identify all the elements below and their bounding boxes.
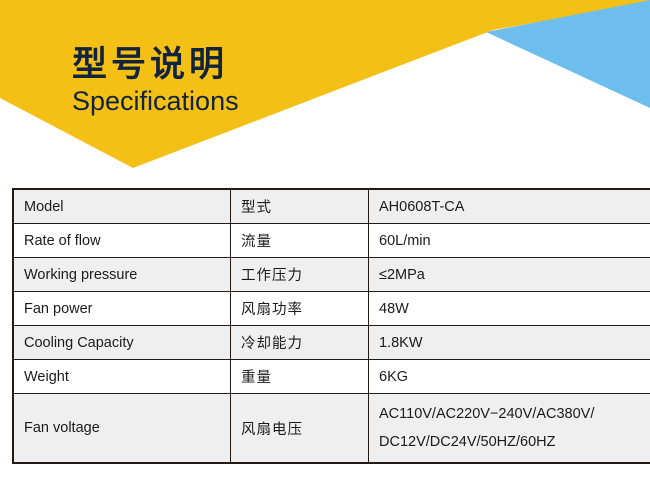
specifications-page: 型号说明 Specifications Model 型式 AH0608T-CA … (0, 0, 650, 484)
page-title-english: Specifications (72, 86, 239, 116)
row-label-chinese: 型式 (231, 189, 369, 224)
row-label-chinese: 风扇功率 (231, 292, 369, 326)
row-label-chinese: 工作压力 (231, 258, 369, 292)
table-row: Rate of flow 流量 60L/min (13, 224, 650, 258)
row-value: 48W (369, 292, 650, 326)
table-row: Fan voltage 风扇电压 AC110V/AC220V−240V/AC38… (13, 394, 650, 464)
banner-title-group: 型号说明 Specifications (72, 48, 239, 116)
row-value: 1.8KW (369, 326, 650, 360)
row-label-english: Rate of flow (13, 224, 231, 258)
header-banner: 型号说明 Specifications (0, 0, 650, 180)
row-value: AC110V/AC220V−240V/AC380V/ DC12V/DC24V/5… (369, 394, 650, 464)
row-value: 6KG (369, 360, 650, 394)
row-label-chinese: 重量 (231, 360, 369, 394)
row-label-chinese: 风扇电压 (231, 394, 369, 464)
row-label-english: Working pressure (13, 258, 231, 292)
row-label-english: Cooling Capacity (13, 326, 231, 360)
row-value-lines: AC110V/AC220V−240V/AC380V/ DC12V/DC24V/5… (379, 400, 650, 457)
row-label-english: Model (13, 189, 231, 224)
table-row: Cooling Capacity 冷却能力 1.8KW (13, 326, 650, 360)
row-label-chinese: 流量 (231, 224, 369, 258)
row-value-line-1: AC110V/AC220V−240V/AC380V/ (379, 400, 650, 428)
row-value: AH0608T-CA (369, 189, 650, 224)
table-row: Model 型式 AH0608T-CA (13, 189, 650, 224)
table-row: Fan power 风扇功率 48W (13, 292, 650, 326)
row-label-english: Fan voltage (13, 394, 231, 464)
row-label-english: Fan power (13, 292, 231, 326)
table-row: Weight 重量 6KG (13, 360, 650, 394)
row-label-english: Weight (13, 360, 231, 394)
row-label-chinese: 冷却能力 (231, 326, 369, 360)
row-value: 60L/min (369, 224, 650, 258)
row-value-line-2: DC12V/DC24V/50HZ/60HZ (379, 428, 650, 456)
row-value: ≤2MPa (369, 258, 650, 292)
specifications-table: Model 型式 AH0608T-CA Rate of flow 流量 60L/… (12, 188, 650, 464)
specifications-table-wrapper: Model 型式 AH0608T-CA Rate of flow 流量 60L/… (12, 188, 638, 464)
page-title-chinese: 型号说明 (72, 48, 239, 83)
table-row: Working pressure 工作压力 ≤2MPa (13, 258, 650, 292)
